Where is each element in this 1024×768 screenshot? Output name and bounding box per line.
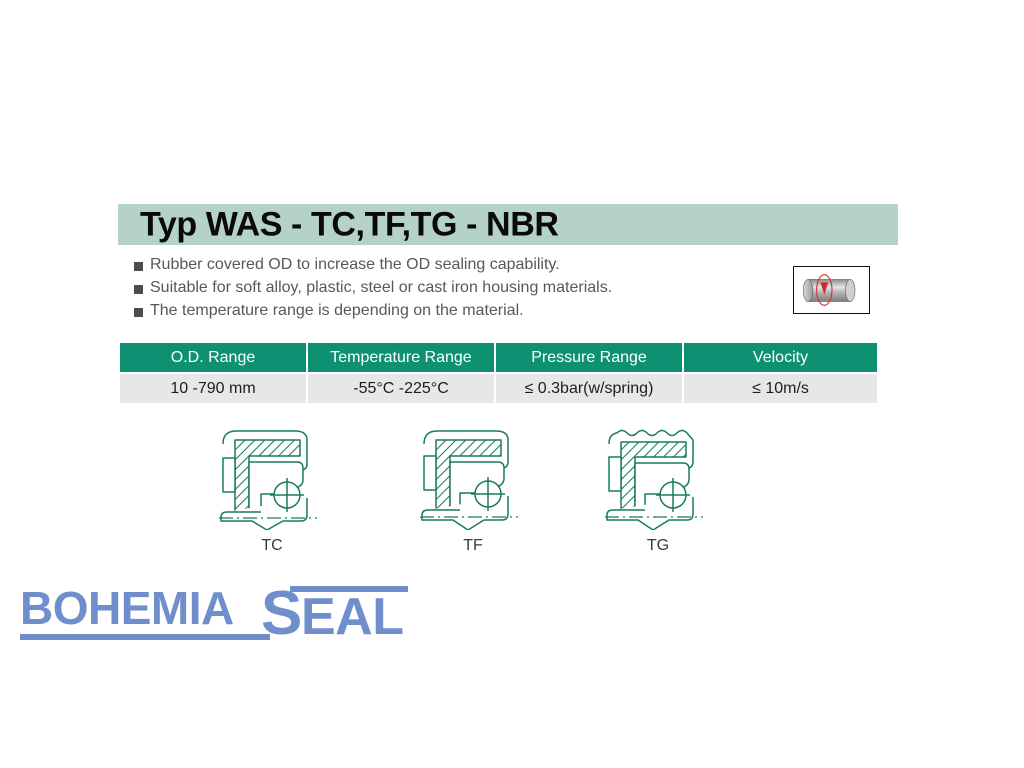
seal-label-tc: TC bbox=[197, 537, 347, 555]
feature-text: The temperature range is depending on th… bbox=[150, 302, 524, 320]
column-header-od-range: O.D. Range bbox=[120, 343, 306, 372]
logo-underline-bar bbox=[20, 634, 270, 640]
seal-figure-tc: TC bbox=[197, 418, 347, 555]
column-header-temperature-range: Temperature Range bbox=[308, 343, 494, 372]
seal-label-tg: TG bbox=[583, 537, 733, 555]
table-row: 10 -790 mm -55°C -225°C ≤ 0.3bar(w/sprin… bbox=[120, 374, 877, 403]
list-item: Suitable for soft alloy, plastic, steel … bbox=[134, 279, 774, 297]
feature-text: Rubber covered OD to increase the OD sea… bbox=[150, 256, 560, 274]
title-band: Typ WAS - TC,TF,TG - NBR bbox=[118, 204, 898, 245]
feature-list: Rubber covered OD to increase the OD sea… bbox=[134, 256, 774, 325]
seal-cross-section-tc-icon bbox=[197, 418, 347, 530]
seal-cross-section-tf-icon bbox=[398, 418, 548, 530]
page-title: Typ WAS - TC,TF,TG - NBR bbox=[140, 205, 559, 244]
seal-cross-section-tg-icon bbox=[583, 418, 733, 530]
rotating-shaft-icon bbox=[793, 266, 870, 314]
seal-figure-tg: TG bbox=[583, 418, 733, 555]
logo-word-eal: EAL bbox=[301, 588, 404, 646]
seal-figure-tf: TF bbox=[398, 418, 548, 555]
table-header-row: O.D. Range Temperature Range Pressure Ra… bbox=[120, 343, 877, 372]
feature-text: Suitable for soft alloy, plastic, steel … bbox=[150, 279, 612, 297]
cell-pressure-range: ≤ 0.3bar(w/spring) bbox=[496, 374, 682, 403]
cell-temperature-range: -55°C -225°C bbox=[308, 374, 494, 403]
cell-velocity: ≤ 10m/s bbox=[684, 374, 877, 403]
column-header-pressure-range: Pressure Range bbox=[496, 343, 682, 372]
specification-table: O.D. Range Temperature Range Pressure Ra… bbox=[118, 341, 879, 405]
seal-label-tf: TF bbox=[398, 537, 548, 555]
square-bullet-icon bbox=[134, 308, 143, 317]
cell-od-range: 10 -790 mm bbox=[120, 374, 306, 403]
square-bullet-icon bbox=[134, 285, 143, 294]
square-bullet-icon bbox=[134, 262, 143, 271]
column-header-velocity: Velocity bbox=[684, 343, 877, 372]
logo-top-bar bbox=[290, 586, 408, 592]
list-item: Rubber covered OD to increase the OD sea… bbox=[134, 256, 774, 274]
bohemia-seal-logo: BOHEMIA S EAL bbox=[18, 578, 418, 648]
logo-word-bohemia: BOHEMIA bbox=[20, 582, 234, 634]
list-item: The temperature range is depending on th… bbox=[134, 302, 774, 320]
